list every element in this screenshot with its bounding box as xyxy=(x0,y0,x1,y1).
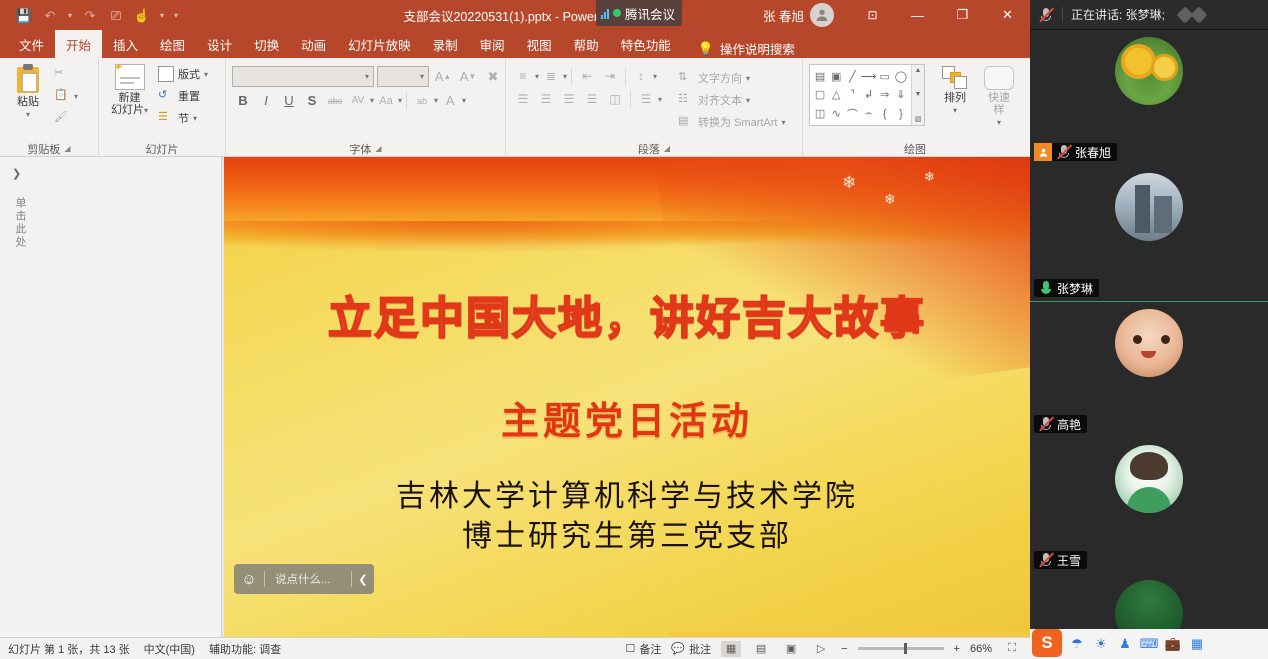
tab-slideshow[interactable]: 幻灯片放映 xyxy=(337,30,422,58)
reset-button[interactable]: ↺ 重置 xyxy=(154,86,212,106)
oval-shape-icon[interactable]: ◯ xyxy=(893,67,909,86)
notes-button[interactable]: ☐ 备注 xyxy=(626,641,662,657)
touch-mode-dropdown-icon[interactable]: ▾ xyxy=(156,4,168,26)
text-direction-icon: ⇅ xyxy=(678,70,694,86)
rectangle-shape-icon[interactable]: ▭ xyxy=(877,67,893,86)
comments-button[interactable]: 💬 批注 xyxy=(671,641,711,657)
quick-access-toolbar: 💾 ↶ ▾ ↷ ⎚ ☝ ▾ ▾ xyxy=(0,4,182,26)
font-name-chevron-icon: ▾ xyxy=(365,72,369,81)
status-bar-left: 幻灯片 第 1 张，共 13 张 中文(中国) 辅助功能: 调查 xyxy=(0,641,281,657)
avatar xyxy=(1115,37,1183,105)
meeting-speaking-header: 正在讲话: 张梦琳; xyxy=(1030,0,1268,30)
tab-file[interactable]: 文件 xyxy=(8,30,55,58)
participant-name: 高艳 xyxy=(1057,416,1081,433)
present-from-beginning-icon[interactable]: ⎚ xyxy=(104,4,128,26)
change-case-chevron-icon[interactable]: ▾ xyxy=(398,96,402,105)
quick-styles-button[interactable]: 快速样▾ xyxy=(977,64,1021,131)
slides-group-label: 幻灯片 xyxy=(146,141,179,157)
minimize-button[interactable]: — xyxy=(895,0,940,30)
paste-label: 粘贴 xyxy=(17,96,39,108)
font-size-input[interactable]: ▾ xyxy=(377,66,429,87)
dove-icon: ❄ xyxy=(924,169,935,185)
chevron-left-icon[interactable]: ❮ xyxy=(352,573,374,586)
mic-muted-icon[interactable] xyxy=(1038,7,1054,23)
tab-animations[interactable]: 动画 xyxy=(290,30,337,58)
user-icon[interactable]: ☀ xyxy=(1090,633,1112,655)
notes-label: 备注 xyxy=(639,641,661,657)
status-bar: 幻灯片 第 1 张，共 13 张 中文(中国) 辅助功能: 调查 ☐ 备注 💬 … xyxy=(0,637,1030,659)
highlight-chevron-icon[interactable]: ▾ xyxy=(434,96,438,105)
overlay-label: 腾讯会议 xyxy=(625,4,675,23)
grow-font-label: A xyxy=(435,69,444,84)
paragraph-group-label: 段落 xyxy=(638,141,660,157)
participant-tile[interactable]: 高艳 xyxy=(1030,302,1268,438)
folded-corner-shape-icon[interactable]: ◫ xyxy=(812,104,828,123)
scribble-shape-icon[interactable]: ∿ xyxy=(828,104,844,123)
tencent-meeting-overlay-tooltip: 腾讯会议 xyxy=(596,0,682,26)
elbow-connector-shape-icon[interactable]: ⌝ xyxy=(844,86,860,105)
participant-name-chip: 张梦琳 xyxy=(1034,279,1099,297)
change-case-button[interactable]: Aa xyxy=(375,90,397,111)
title-bar: 💾 ↶ ▾ ↷ ⎚ ☝ ▾ ▾ 支部会议20220531(1).pptx - P… xyxy=(0,0,1030,30)
mic-muted-icon xyxy=(1038,552,1054,568)
underline-button[interactable]: U xyxy=(278,90,300,111)
text-direction-button[interactable]: ⇅ 文字方向▾ xyxy=(674,68,789,88)
tell-me-label: 操作说明搜索 xyxy=(720,39,795,58)
right-arrow-shape-icon[interactable]: ⇒ xyxy=(877,86,893,105)
right-brace-shape-icon[interactable]: } xyxy=(893,104,909,123)
tab-transitions[interactable]: 切换 xyxy=(243,30,290,58)
textbox-shape-icon[interactable]: ▤ xyxy=(812,67,828,86)
participant-name: 张春旭 xyxy=(1075,144,1111,161)
shapes-grid: ▤ ▣ ╱ ⟶ ▭ ◯ ▢ △ ⌝ ↲ ⇒ ⇓ ◫ xyxy=(810,65,911,125)
align-left-button[interactable]: ☰ xyxy=(512,89,534,109)
ribbon-display-options-button[interactable]: ⊡ xyxy=(850,0,895,30)
gallery-scroll-up-icon[interactable]: ▲ xyxy=(915,67,922,74)
participant-tile[interactable] xyxy=(1030,574,1268,633)
slide-number-status[interactable]: 幻灯片 第 1 张，共 13 张 xyxy=(8,641,130,657)
zoom-level-label[interactable]: 66% xyxy=(970,643,992,655)
title-bar-right: 张 春旭 ⊡ — ❐ ✕ xyxy=(763,0,1030,30)
tab-draw[interactable]: 绘图 xyxy=(149,30,196,58)
slide-sorter-icon[interactable]: ▤ xyxy=(751,641,771,657)
ribbon: 粘贴▾ ✂ 📋▾ 🖌 剪贴板 ◢ xyxy=(0,58,1030,157)
layout-button[interactable]: 版式▾ xyxy=(154,64,212,84)
columns-chevron-icon[interactable]: ▾ xyxy=(658,95,662,104)
numbering-chevron-icon[interactable]: ▾ xyxy=(563,72,567,81)
font-color-chevron-icon[interactable]: ▾ xyxy=(462,96,466,105)
zoom-slider[interactable] xyxy=(858,647,944,650)
reading-view-icon[interactable]: ▣ xyxy=(781,641,801,657)
speaking-status-text: 正在讲话: 张梦琳; xyxy=(1071,6,1165,23)
section-label: 节 xyxy=(178,110,189,126)
decrease-font-size-button[interactable]: A▼ xyxy=(457,66,479,87)
justify-button[interactable]: ☰ xyxy=(581,89,603,109)
screen-root: 💾 ↶ ▾ ↷ ⎚ ☝ ▾ ▾ 支部会议20220531(1).pptx - P… xyxy=(0,0,1268,659)
character-spacing-chevron-icon[interactable]: ▾ xyxy=(370,96,374,105)
tencent-meeting-logo-icon xyxy=(1179,9,1205,21)
editor-main-area: ❯ 单击此处 ❄ ❄ ❄ 立足中国大地，讲好吉大故事 主题党日活动 吉林大学计算… xyxy=(0,157,1030,654)
avatar xyxy=(1115,580,1183,633)
dove-icon: ❄ xyxy=(884,191,896,208)
meeting-chat-bar[interactable]: ☺ 说点什么... ❮ xyxy=(234,564,374,594)
text-highlight-button[interactable]: ab xyxy=(411,90,433,111)
powerpoint-window: 💾 ↶ ▾ ↷ ⎚ ☝ ▾ ▾ 支部会议20220531(1).pptx - P… xyxy=(0,0,1030,659)
copy-button[interactable]: 📋▾ xyxy=(50,86,82,106)
keyboard-icon[interactable]: ⌨ xyxy=(1138,633,1160,655)
align-text-button[interactable]: ☷ 对齐文本▾ xyxy=(674,90,789,110)
tencent-meeting-panel: 正在讲话: 张梦琳; 张春旭 张梦琳 xyxy=(1030,0,1268,659)
slideshow-icon[interactable]: ▷ xyxy=(811,641,831,657)
tab-view[interactable]: 视图 xyxy=(516,30,563,58)
ribbon-group-font: ▾ ▾ A▲ A▼ ✖ B I U S xyxy=(225,58,505,157)
emoji-icon[interactable]: ☺ xyxy=(234,571,264,588)
participant-video xyxy=(1030,574,1268,633)
participant-name-chip: 张春旭 xyxy=(1034,143,1117,161)
elbow-arrow-shape-icon[interactable]: ↲ xyxy=(860,86,876,105)
comment-icon: 💬 xyxy=(671,642,685,655)
paragraph-dialog-launcher-icon[interactable]: ◢ xyxy=(664,144,670,153)
status-dot-icon xyxy=(613,9,621,17)
section-icon: ☰ xyxy=(158,110,174,126)
tell-me-search[interactable]: 💡 操作说明搜索 xyxy=(682,39,795,58)
avatar xyxy=(1115,445,1183,513)
align-text-icon: ☷ xyxy=(678,92,694,108)
new-slide-button[interactable]: ✦ 新建 幻灯片▾ xyxy=(105,62,154,119)
slide-organization-text[interactable]: 吉林大学计算机科学与技术学院 博士研究生第三党支部 xyxy=(224,477,1030,556)
shapes-gallery-scrollbar[interactable]: ▲ ▼ ▧ xyxy=(911,65,924,125)
save-icon[interactable]: 💾 xyxy=(12,4,36,26)
windows-taskbar-strip: S ☂ ☀ ♟ ⌨ 💼 ▦ xyxy=(1030,629,1268,659)
rounded-rect-shape-icon[interactable]: ▢ xyxy=(812,86,828,105)
align-text-label: 对齐文本 xyxy=(698,92,742,108)
new-slide-label-1: 新建 xyxy=(119,92,141,104)
tab-review[interactable]: 审阅 xyxy=(469,30,516,58)
drawing-group-label: 绘图 xyxy=(904,141,926,157)
touch-mode-icon[interactable]: ☝ xyxy=(130,4,154,26)
quick-styles-label: 快速样 xyxy=(988,92,1010,116)
arrow-shape-icon[interactable]: ⟶ xyxy=(860,67,876,86)
undo-dropdown-icon[interactable]: ▾ xyxy=(64,4,76,26)
person-icon[interactable]: ♟ xyxy=(1114,633,1136,655)
quick-styles-icon xyxy=(984,66,1014,90)
chevron-right-icon[interactable]: ❯ xyxy=(12,167,21,180)
avatar xyxy=(1115,173,1183,241)
tab-design[interactable]: 设计 xyxy=(196,30,243,58)
text-direction-grid-button[interactable]: ☰ xyxy=(635,89,657,109)
columns-button[interactable]: ◫ xyxy=(604,89,626,109)
line-shape-icon[interactable]: ╱ xyxy=(844,67,860,86)
arc-shape-icon[interactable]: ⌢ xyxy=(860,104,876,123)
text-shadow-button[interactable]: S xyxy=(301,90,323,111)
accessibility-status[interactable]: 辅助功能: 调查 xyxy=(209,641,281,657)
gallery-more-icon[interactable]: ▧ xyxy=(915,115,922,123)
down-arrow-shape-icon[interactable]: ⇓ xyxy=(893,86,909,105)
slide-subtitle-text[interactable]: 主题党日活动 xyxy=(224,390,1030,445)
text-direction-label: 文字方向 xyxy=(698,70,742,86)
paste-icon xyxy=(15,64,41,94)
align-center-button[interactable]: ☰ xyxy=(535,89,557,109)
arrange-label: 排列 xyxy=(944,92,966,104)
participant-tile[interactable]: 张春旭 xyxy=(1030,30,1268,166)
slide-title-text[interactable]: 立足中国大地，讲好吉大故事 xyxy=(224,282,1030,346)
participant-name: 王雪 xyxy=(1057,552,1081,569)
font-color-button[interactable]: A xyxy=(439,90,461,111)
mic-muted-icon xyxy=(1056,144,1072,160)
comments-label: 批注 xyxy=(689,641,711,657)
mic-muted-icon xyxy=(1038,416,1054,432)
arrange-icon xyxy=(942,66,968,90)
decrease-indent-button[interactable]: ⇤ xyxy=(576,66,598,86)
tab-insert[interactable]: 插入 xyxy=(102,30,149,58)
ribbon-group-paragraph: ≡▾ ≣▾ ⇤ ⇥ ↕▾ ☰ ☰ ☰ ☰ xyxy=(505,58,802,157)
language-status[interactable]: 中文(中国) xyxy=(144,641,195,657)
line-spacing-chevron-icon[interactable]: ▾ xyxy=(653,72,657,81)
tab-home[interactable]: 开始 xyxy=(55,30,102,58)
clipboard-dialog-launcher-icon[interactable]: ◢ xyxy=(64,144,70,153)
apps-icon[interactable]: ▦ xyxy=(1186,633,1208,655)
participant-tile[interactable]: 张梦琳 xyxy=(1030,166,1268,302)
signal-strength-icon xyxy=(601,8,609,19)
notes-icon: ☐ xyxy=(626,642,636,655)
close-button[interactable]: ✕ xyxy=(985,0,1030,30)
increase-font-size-button[interactable]: A▲ xyxy=(432,66,454,87)
scissors-icon: ✂ xyxy=(54,66,70,82)
line-spacing-button[interactable]: ↕ xyxy=(630,66,652,86)
tab-record[interactable]: 录制 xyxy=(422,30,469,58)
curve-shape-icon[interactable]: ⌒ xyxy=(844,104,860,123)
format-painter-icon: 🖌 xyxy=(54,110,70,126)
font-name-input[interactable]: ▾ xyxy=(232,66,374,87)
normal-view-icon[interactable]: ▦ xyxy=(721,641,741,657)
strikethrough-button[interactable]: abc xyxy=(324,90,346,111)
convert-to-smartart-button[interactable]: ▤ 转换为 SmartArt▾ xyxy=(674,112,789,132)
bold-button[interactable]: B xyxy=(232,90,254,111)
layout-icon xyxy=(158,66,174,82)
section-button[interactable]: ☰ 节▾ xyxy=(154,108,212,128)
font-size-chevron-icon: ▾ xyxy=(420,72,424,81)
bullets-chevron-icon[interactable]: ▾ xyxy=(535,72,539,81)
zoom-in-button[interactable]: + xyxy=(954,643,960,655)
smartart-icon: ▤ xyxy=(678,114,694,130)
participant-name-chip: 高艳 xyxy=(1034,415,1087,433)
zoom-out-button[interactable]: − xyxy=(841,643,847,655)
character-spacing-button[interactable]: AV xyxy=(347,90,369,111)
ribbon-group-clipboard: 粘贴▾ ✂ 📋▾ 🖌 剪贴板 ◢ xyxy=(0,58,98,157)
participant-name: 张梦琳 xyxy=(1057,280,1093,297)
participant-tile[interactable]: 王雪 xyxy=(1030,438,1268,574)
cut-button[interactable]: ✂ xyxy=(50,64,82,84)
lightbulb-icon: 💡 xyxy=(698,41,714,57)
qq-icon[interactable]: S xyxy=(1032,629,1062,657)
paste-button[interactable]: 粘贴▾ xyxy=(6,62,50,123)
shrink-font-label: A xyxy=(460,69,469,84)
new-slide-icon: ✦ xyxy=(115,64,145,90)
copy-icon: 📋 xyxy=(54,88,70,104)
numbering-button[interactable]: ≣ xyxy=(540,66,562,86)
tab-special[interactable]: 特色功能 xyxy=(610,30,682,58)
reset-label: 重置 xyxy=(178,88,200,104)
host-badge-icon xyxy=(1034,143,1052,161)
thumbnail-pane-hint: 单击此处 xyxy=(12,197,28,249)
left-brace-shape-icon[interactable]: { xyxy=(877,104,893,123)
ribbon-tab-bar: 文件 开始 插入 绘图 设计 切换 动画 幻灯片放映 录制 审阅 视图 帮助 特… xyxy=(0,30,1030,58)
smartart-label: 转换为 SmartArt xyxy=(698,114,777,130)
shield-icon[interactable]: ☂ xyxy=(1066,633,1088,655)
ribbon-group-slides: ✦ 新建 幻灯片▾ 版式▾ ↺ xyxy=(98,58,225,157)
layout-label: 版式 xyxy=(178,66,200,82)
font-dialog-launcher-icon[interactable]: ◢ xyxy=(375,144,381,153)
redo-icon[interactable]: ↷ xyxy=(78,4,102,26)
increase-indent-button[interactable]: ⇥ xyxy=(599,66,621,86)
avatar xyxy=(1115,309,1183,377)
bullets-button[interactable]: ≡ xyxy=(512,66,534,86)
restore-button[interactable]: ❐ xyxy=(940,0,985,30)
account-name: 张 春旭 xyxy=(763,6,804,25)
shapes-gallery[interactable]: ▤ ▣ ╱ ⟶ ▭ ◯ ▢ △ ⌝ ↲ ⇒ ⇓ ◫ xyxy=(809,64,925,126)
mic-active-icon xyxy=(1038,280,1054,296)
triangle-shape-icon[interactable]: △ xyxy=(828,86,844,105)
textbox-vertical-shape-icon[interactable]: ▣ xyxy=(828,67,844,86)
format-painter-button[interactable]: 🖌 xyxy=(50,108,82,128)
participant-name-chip: 王雪 xyxy=(1034,551,1087,569)
briefcase-icon[interactable]: 💼 xyxy=(1162,633,1184,655)
clipboard-group-label: 剪贴板 xyxy=(27,141,60,157)
customize-qat-icon[interactable]: ▾ xyxy=(170,4,182,26)
undo-icon[interactable]: ↶ xyxy=(38,4,62,26)
chat-input[interactable]: 说点什么... xyxy=(265,571,351,587)
org-line-1: 吉林大学计算机科学与技术学院 xyxy=(396,479,858,514)
reset-icon: ↺ xyxy=(158,88,174,104)
dove-icon: ❄ xyxy=(842,173,856,193)
org-line-2: 博士研究生第三党支部 xyxy=(462,519,792,554)
slide-edit-pane[interactable]: ❄ ❄ ❄ 立足中国大地，讲好吉大故事 主题党日活动 吉林大学计算机科学与技术学… xyxy=(222,157,1030,654)
align-right-button[interactable]: ☰ xyxy=(558,89,580,109)
gallery-scroll-down-icon[interactable]: ▼ xyxy=(915,91,922,98)
italic-button[interactable]: I xyxy=(255,90,277,111)
font-group-label: 字体 xyxy=(349,141,371,157)
arrange-button[interactable]: 排列▾ xyxy=(933,64,977,119)
fit-to-window-icon[interactable]: ⛶ xyxy=(1002,641,1022,657)
new-slide-label-2: 幻灯片 xyxy=(111,104,144,116)
ribbon-group-drawing: ▤ ▣ ╱ ⟶ ▭ ◯ ▢ △ ⌝ ↲ ⇒ ⇓ ◫ xyxy=(802,58,1027,157)
avatar[interactable] xyxy=(810,3,834,27)
status-bar-right: ☐ 备注 💬 批注 ▦ ▤ ▣ ▷ − + 66% ⛶ xyxy=(626,641,1022,657)
slide-thumbnail-pane[interactable]: ❯ 单击此处 xyxy=(0,157,222,654)
tab-help[interactable]: 帮助 xyxy=(563,30,610,58)
clear-formatting-icon[interactable]: ✖ xyxy=(482,66,504,87)
